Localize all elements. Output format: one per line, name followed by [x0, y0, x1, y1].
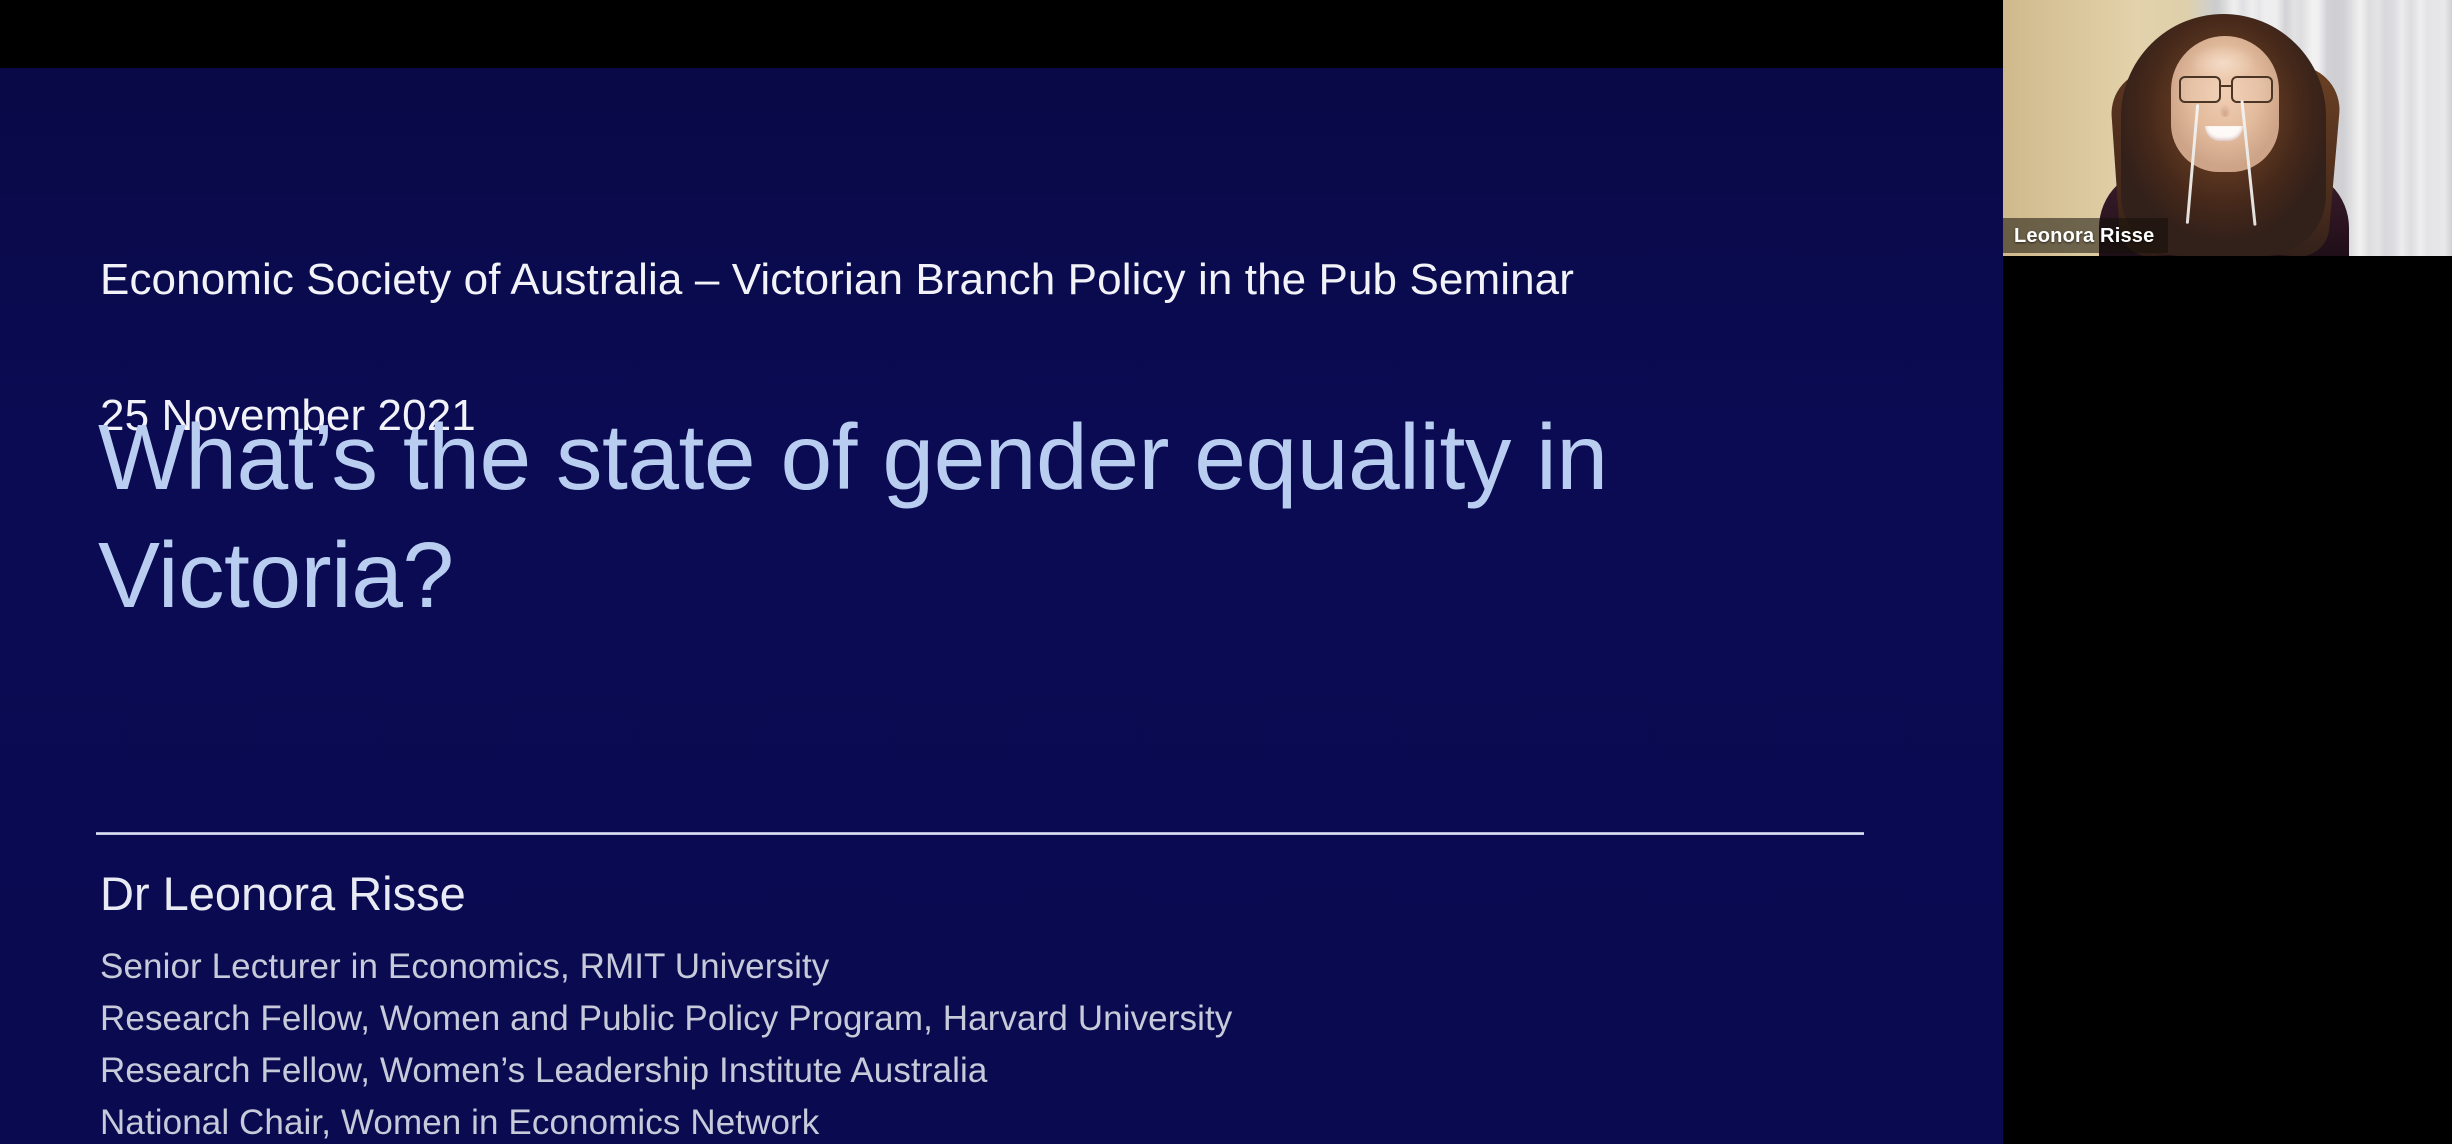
participant-video-tile[interactable]: Leonora Risse: [2003, 0, 2452, 256]
affiliation-line: Research Fellow, Women and Public Policy…: [100, 993, 1800, 1045]
slide-affiliations-list: Senior Lecturer in Economics, RMIT Unive…: [100, 941, 1800, 1144]
glasses-left-lens: [2179, 76, 2221, 103]
affiliation-line: Research Fellow, Women’s Leadership Inst…: [100, 1045, 1800, 1097]
slide-header-line-1: Economic Society of Australia – Victoria…: [100, 246, 1900, 314]
glasses-right-lens: [2231, 76, 2273, 103]
shared-screen-stage: Economic Society of Australia – Victoria…: [0, 0, 2452, 1144]
participant-name-text: Leonora Risse: [2014, 226, 2154, 246]
video-panel-background: [2003, 256, 2452, 1144]
participant-name-label: Leonora Risse: [2003, 218, 2168, 253]
letterbox-top-bar: [0, 0, 2003, 68]
affiliation-line: Senior Lecturer in Economics, RMIT Unive…: [100, 941, 1800, 993]
slide-title: What’s the state of gender equality in V…: [98, 398, 1718, 634]
affiliation-line: National Chair, Women in Economics Netwo…: [100, 1097, 1800, 1144]
participant-nose: [2219, 104, 2231, 117]
slide-presenter-name: Dr Leonora Risse: [100, 865, 466, 923]
glasses-icon: [2179, 76, 2273, 100]
slide-divider-rule: [96, 832, 1864, 835]
presentation-slide: Economic Society of Australia – Victoria…: [0, 68, 2003, 1144]
